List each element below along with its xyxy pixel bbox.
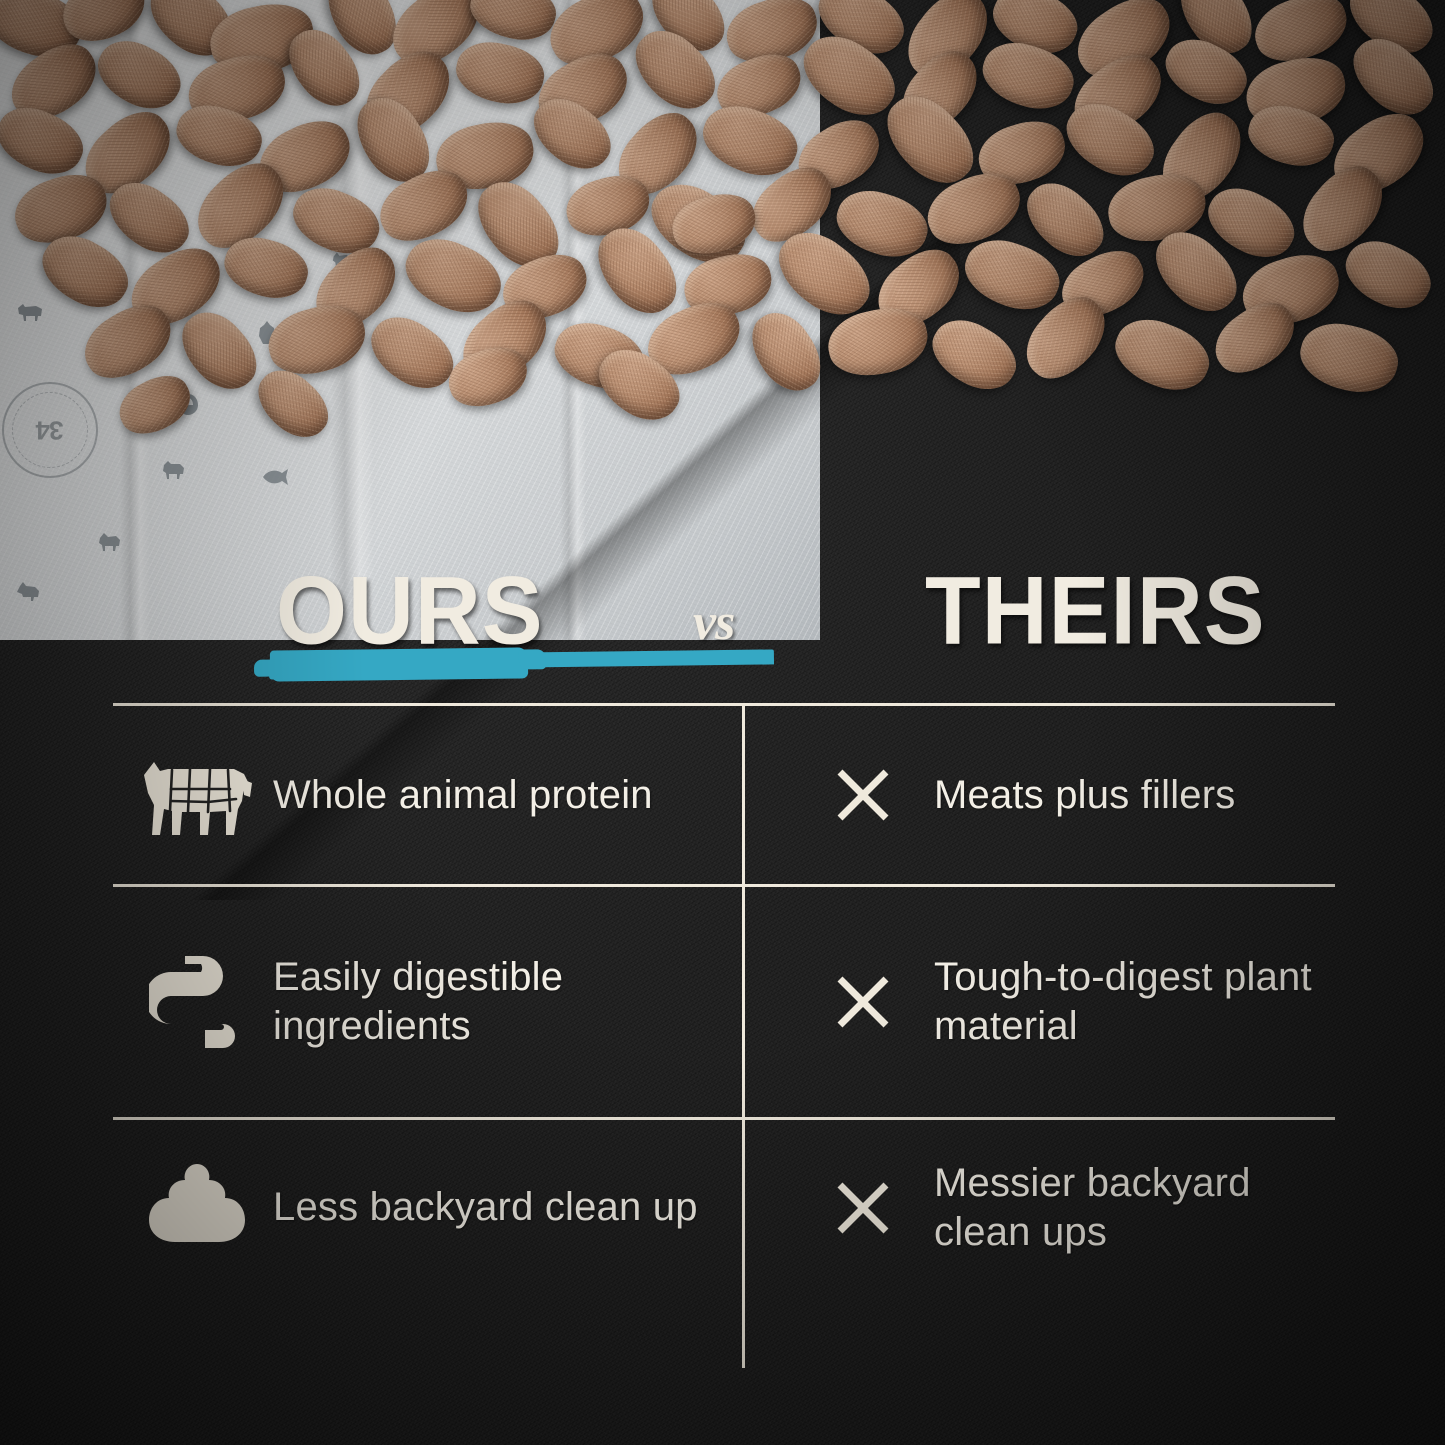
vignette — [0, 0, 1445, 1445]
comparison-infographic: 34 — [0, 0, 1445, 1445]
